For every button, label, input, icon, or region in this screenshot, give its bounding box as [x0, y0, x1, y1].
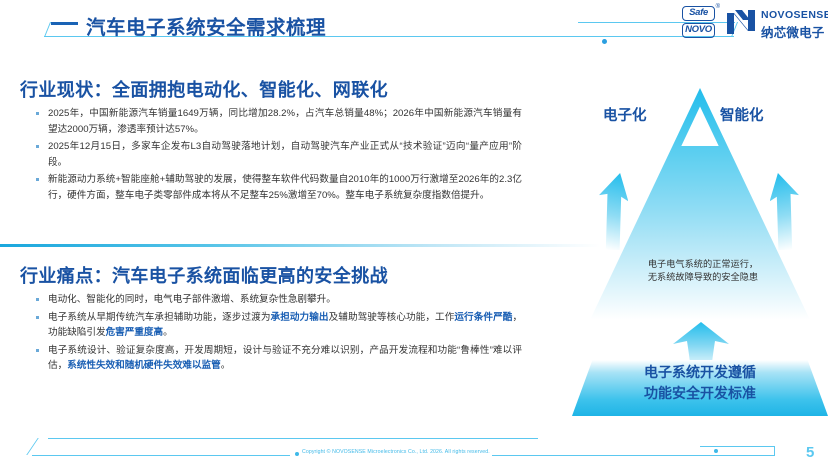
bullet-item: 电子系统设计、验证复杂度高，开发周期短，设计与验证不充分难以识别，产品开发流程和…	[32, 343, 522, 374]
safe-novo-badge: Safe NOVO ®	[682, 6, 715, 39]
arrow-up-right-icon	[770, 172, 804, 250]
footer-line-skew-right	[774, 446, 775, 456]
page-number: 5	[806, 444, 814, 461]
pyramid-label-left: 电子化	[603, 104, 647, 125]
section-title-current-status: 行业现状：全面拥抱电动化、智能化、网联化	[20, 76, 388, 102]
footer-line-bottom-left	[32, 455, 290, 456]
pyramid-base-line1: 电子系统开发遵循	[572, 362, 828, 383]
pyramid-diagram: 电子化 智能化 电子电气系统的正常运行，无系统故障	[572, 60, 828, 415]
bullet-item: 新能源动力系统+智能座舱+辅助驾驶的发展，使得整车软件代码数量自2010年的10…	[32, 172, 522, 203]
page-title: 汽车电子系统安全需求梳理	[86, 11, 326, 40]
header-decoration-dot	[602, 39, 607, 44]
slide-footer: Copyright © NOVOSENSE Microelectronics C…	[0, 430, 828, 465]
pyramid-base-line2: 功能安全开发标准	[572, 383, 828, 404]
footer-line-top	[48, 438, 538, 439]
footer-dot-left	[295, 452, 299, 456]
bullet-list-pain-points: 电动化、智能化的同时，电气电子部件激增、系统复杂性急剧攀升。 电子系统从早期传统…	[32, 292, 522, 376]
logo-text-english: NOVOSENSE	[761, 9, 828, 21]
footer-line-bottom-right	[492, 455, 774, 456]
footer-dot-right	[714, 449, 718, 453]
safe-badge-line1: Safe	[682, 6, 715, 21]
copyright-text: Copyright © NOVOSENSE Microelectronics C…	[302, 449, 490, 455]
header-accent-dash	[51, 22, 78, 25]
section-divider	[0, 244, 600, 247]
arrow-up-left-icon	[594, 172, 628, 250]
slide: 汽车电子系统安全需求梳理 Safe NOVO ® NOVOSENSE 纳芯微电子…	[0, 0, 828, 465]
footer-line-skew	[26, 438, 38, 455]
bullet-list-current-status: 2025年，中国新能源汽车销量1649万辆，同比增加28.2%，占汽车总销量48…	[32, 106, 522, 205]
slide-header: 汽车电子系统安全需求梳理 Safe NOVO ® NOVOSENSE 纳芯微电子	[0, 0, 828, 48]
logo-text-chinese: 纳芯微电子	[761, 22, 825, 41]
section-title-pain-points: 行业痛点：汽车电子系统面临更高的安全挑战	[20, 262, 388, 288]
header-rule-left-cap	[44, 22, 51, 37]
registered-mark-icon: ®	[716, 4, 720, 10]
footer-line-top-right	[700, 446, 775, 447]
pyramid-base-text: 电子系统开发遵循 功能安全开发标准	[572, 362, 828, 404]
bullet-item: 电子系统从早期传统汽车承担辅助功能，逐步过渡为承担动力输出及辅助驾驶等核心功能，…	[32, 310, 522, 341]
pyramid-label-right: 智能化	[720, 104, 764, 125]
bullet-item: 电动化、智能化的同时，电气电子部件激增、系统复杂性急剧攀升。	[32, 292, 522, 308]
novosense-n-mark-icon	[726, 9, 756, 35]
bullet-item: 2025年12月15日，多家车企发布L3自动驾驶落地计划，自动驾驶汽车产业正式从…	[32, 139, 522, 170]
safe-badge-line2: NOVO	[682, 23, 715, 38]
pyramid-caption: 电子电气系统的正常运行，无系统故障导致的安全隐患	[608, 258, 798, 284]
bullet-item: 2025年，中国新能源汽车销量1649万辆，同比增加28.2%，占汽车总销量48…	[32, 106, 522, 137]
novosense-logo: NOVOSENSE 纳芯微电子	[726, 8, 824, 38]
